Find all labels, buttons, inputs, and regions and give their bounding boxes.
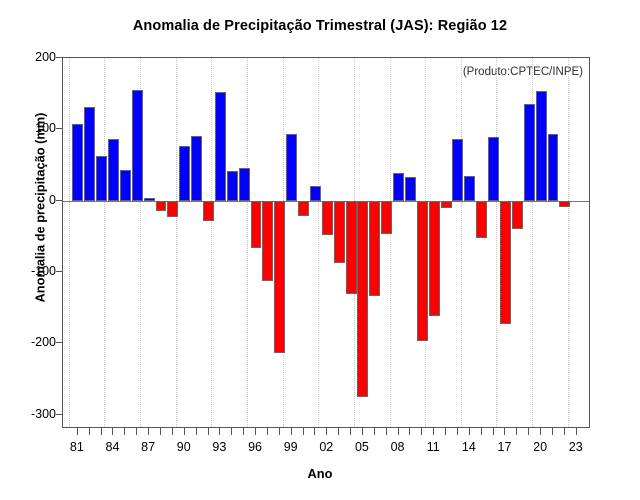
source-annotation: (Produto:CPTEC/INPE) <box>463 66 583 78</box>
bar-01 <box>310 186 321 201</box>
y-axis-title: Anomalia de precipitação (mm) <box>33 78 48 338</box>
x-tick-label: 93 <box>199 440 239 454</box>
x-tick-mark <box>255 428 256 435</box>
x-tick-mark <box>291 428 292 435</box>
x-tick-mark <box>231 428 232 435</box>
gridline <box>69 58 70 427</box>
y-tick-label: -100 <box>31 265 56 277</box>
x-tick-label: 87 <box>128 440 168 454</box>
x-tick-mark <box>528 428 529 435</box>
x-tick-mark <box>540 428 541 435</box>
x-tick-mark <box>576 428 577 435</box>
x-tick-mark <box>445 428 446 435</box>
gridline <box>568 58 569 427</box>
x-tick-mark <box>386 428 387 435</box>
bar-06 <box>369 201 380 296</box>
x-tick-label: 96 <box>235 440 275 454</box>
x-tick-label: 90 <box>164 440 204 454</box>
x-tick-mark <box>564 428 565 435</box>
x-tick-label: 14 <box>449 440 489 454</box>
x-tick-mark <box>314 428 315 435</box>
x-tick-mark <box>398 428 399 435</box>
y-tick-mark <box>56 200 62 201</box>
gridline <box>247 58 248 427</box>
bar-02 <box>322 201 333 235</box>
bar-88 <box>156 201 167 211</box>
y-tick-mark <box>56 342 62 343</box>
x-tick-mark <box>421 428 422 435</box>
y-tick-label: 100 <box>35 122 56 134</box>
x-tick-mark <box>172 428 173 435</box>
x-tick-label: 99 <box>271 440 311 454</box>
y-tick-label: 0 <box>49 194 56 206</box>
bar-94 <box>227 171 238 201</box>
x-tick-mark <box>374 428 375 435</box>
bar-17 <box>500 201 511 324</box>
x-tick-mark <box>516 428 517 435</box>
x-tick-mark <box>112 428 113 435</box>
bar-95 <box>239 168 250 201</box>
x-tick-mark <box>362 428 363 435</box>
bar-19 <box>524 104 535 200</box>
x-tick-mark <box>196 428 197 435</box>
x-tick-label: 11 <box>413 440 453 454</box>
bar-03 <box>334 201 345 263</box>
bar-85 <box>120 170 131 201</box>
bar-81 <box>72 124 83 200</box>
x-axis-title: Ano <box>0 466 640 481</box>
x-tick-label: 08 <box>378 440 418 454</box>
bar-10 <box>417 201 428 341</box>
x-tick-label: 02 <box>306 440 346 454</box>
gridline <box>390 58 391 427</box>
page-title: Anomalia de Precipitação Trimestral (JAS… <box>0 18 640 34</box>
x-tick-label: 23 <box>556 440 596 454</box>
bar-98 <box>274 201 285 354</box>
bar-18 <box>512 201 523 229</box>
y-tick-mark <box>56 414 62 415</box>
y-tick-mark <box>56 271 62 272</box>
y-tick-label: -300 <box>31 408 56 420</box>
x-tick-mark <box>89 428 90 435</box>
bar-91 <box>191 136 202 201</box>
x-tick-mark <box>279 428 280 435</box>
bar-11 <box>429 201 440 317</box>
y-tick-mark <box>56 128 62 129</box>
x-tick-mark <box>409 428 410 435</box>
plot-area: (Produto:CPTEC/INPE) <box>62 57 590 428</box>
bar-90 <box>179 146 190 200</box>
bar-05 <box>357 201 368 397</box>
x-tick-mark <box>552 428 553 435</box>
x-tick-mark <box>136 428 137 435</box>
x-tick-mark <box>101 428 102 435</box>
x-tick-mark <box>481 428 482 435</box>
bar-15 <box>476 201 487 238</box>
x-tick-mark <box>504 428 505 435</box>
x-tick-mark <box>148 428 149 435</box>
bar-87 <box>144 198 155 201</box>
x-tick-mark <box>469 428 470 435</box>
bar-22 <box>559 201 570 207</box>
bar-86 <box>132 90 143 201</box>
x-tick-mark <box>493 428 494 435</box>
bar-96 <box>251 201 262 248</box>
bar-13 <box>452 139 463 200</box>
bar-99 <box>286 134 297 200</box>
x-tick-mark <box>350 428 351 435</box>
x-tick-label: 17 <box>484 440 524 454</box>
x-tick-mark <box>457 428 458 435</box>
bar-08 <box>393 173 404 201</box>
y-tick-mark <box>56 57 62 58</box>
x-tick-mark <box>208 428 209 435</box>
x-tick-mark <box>219 428 220 435</box>
gridline <box>104 58 105 427</box>
bar-09 <box>405 177 416 201</box>
x-tick-label: 84 <box>92 440 132 454</box>
gridline <box>176 58 177 427</box>
x-tick-mark <box>243 428 244 435</box>
gridline <box>496 58 497 427</box>
bar-14 <box>464 176 475 200</box>
bar-16 <box>488 137 499 200</box>
x-tick-label: 81 <box>57 440 97 454</box>
x-tick-mark <box>77 428 78 435</box>
x-tick-mark <box>160 428 161 435</box>
x-tick-mark <box>184 428 185 435</box>
x-tick-label: 20 <box>520 440 560 454</box>
x-tick-label: 05 <box>342 440 382 454</box>
chart-container: Anomalia de Precipitação Trimestral (JAS… <box>0 0 640 500</box>
bar-00 <box>298 201 309 216</box>
bar-12 <box>441 201 452 208</box>
y-tick-label: 200 <box>35 51 56 63</box>
gridline <box>461 58 462 427</box>
bar-20 <box>536 91 547 201</box>
x-tick-mark <box>124 428 125 435</box>
bar-83 <box>96 156 107 201</box>
x-tick-mark <box>303 428 304 435</box>
x-tick-mark <box>338 428 339 435</box>
x-tick-mark <box>267 428 268 435</box>
y-tick-label: -200 <box>31 336 56 348</box>
bar-93 <box>215 92 226 201</box>
gridline <box>318 58 319 427</box>
bar-04 <box>346 201 357 294</box>
bar-92 <box>203 201 214 221</box>
gridline <box>211 58 212 427</box>
bar-21 <box>548 134 559 200</box>
bar-07 <box>381 201 392 234</box>
bar-82 <box>84 107 95 201</box>
bar-89 <box>167 201 178 217</box>
bar-97 <box>262 201 273 282</box>
bar-84 <box>108 139 119 201</box>
x-tick-mark <box>433 428 434 435</box>
x-tick-mark <box>326 428 327 435</box>
